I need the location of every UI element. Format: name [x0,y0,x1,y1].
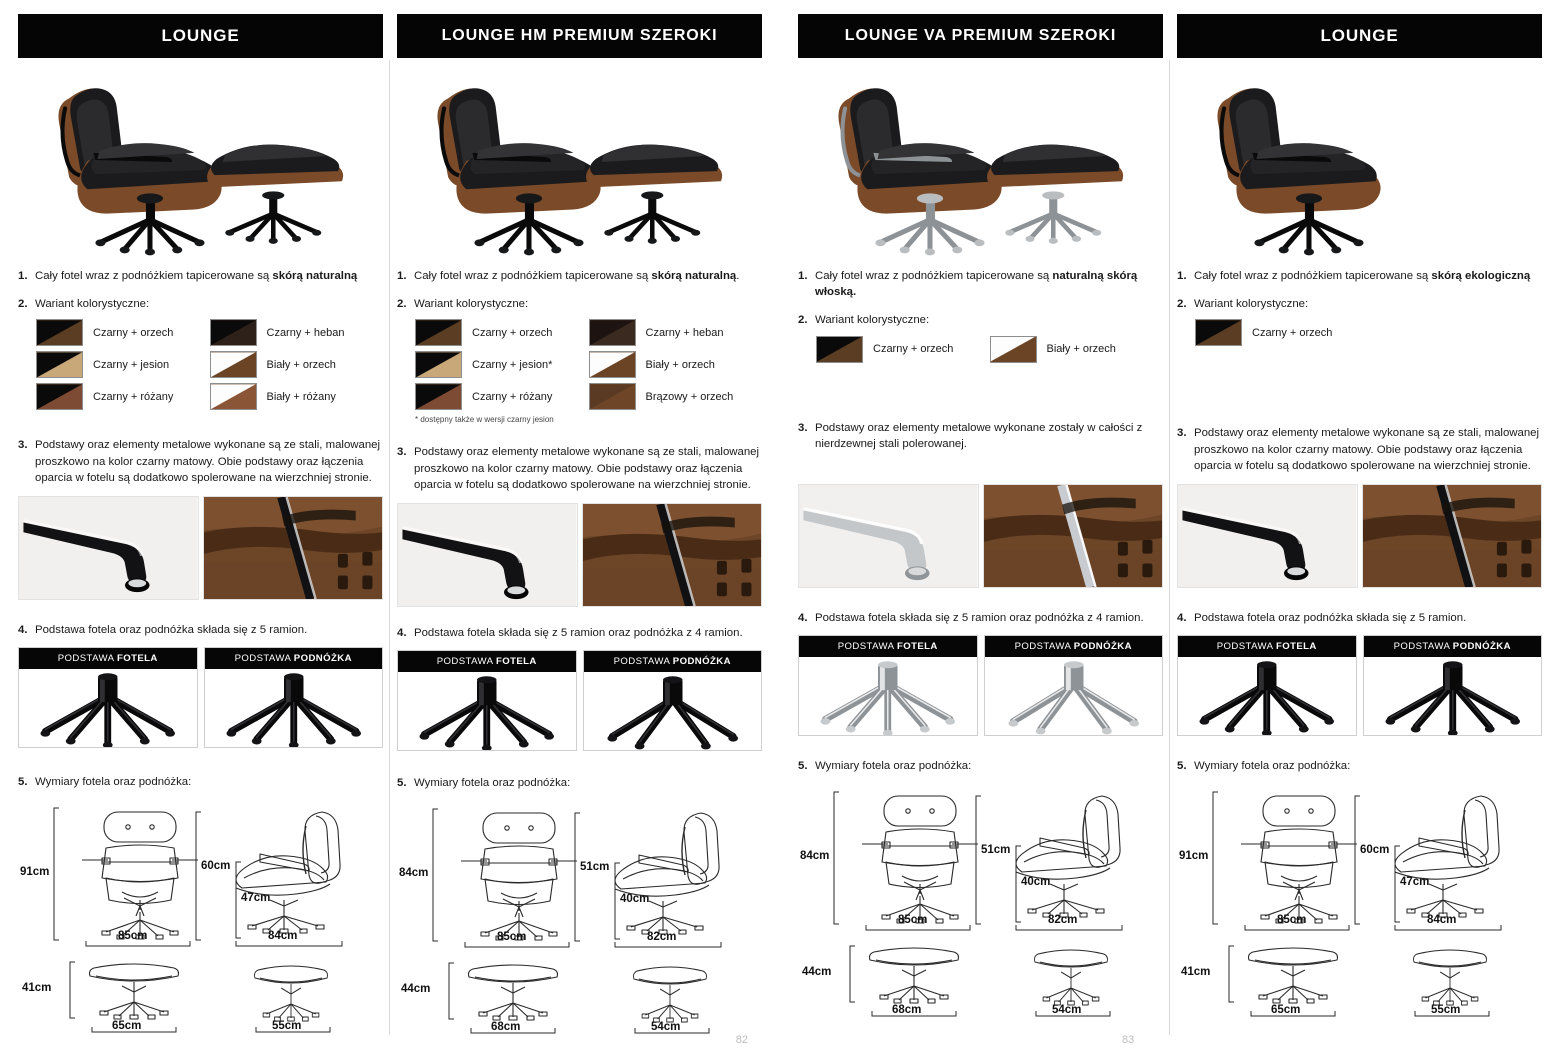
base-comparison: PODSTAWA FOTELA [798,635,1163,736]
dim-ottoman-depth: 55cm [272,1020,301,1032]
spec-item-1: 1. Cały fotel wraz z podnóżkiem tapicero… [798,268,1163,300]
spec-text: Podstawy oraz elementy metalowe wykonane… [815,420,1163,452]
base-comparison: PODSTAWA FOTELA [397,650,762,751]
hero-product-photo [1177,64,1542,256]
dim-ottoman-width: 68cm [892,1004,921,1016]
base-card-chair: PODSTAWA FOTELA [798,635,978,736]
spec-item-5: 5. Wymiary fotela oraz podnóżka: [18,774,383,790]
hero-product-photo [798,64,1163,256]
colour-swatch-icon [415,351,462,378]
ottoman-dimensions: 41cm 65cm 55cm [1177,938,1542,1030]
base-card-ottoman: PODSTAWA PODNÓŻKA [583,650,763,751]
spec-item-1: 1. Cały fotel wraz z podnóżkiem tapicero… [18,268,383,284]
ottoman-dimension-drawing [1177,938,1533,1030]
dim-chair-depth: 82cm [1048,914,1077,926]
swatch-row: Czarny + jesion* Biały + orzech [415,351,762,378]
detail-photo-shell-joint [983,484,1164,588]
colour-swatch-icon [210,383,257,410]
dim-ottoman-height: 41cm [1181,966,1210,978]
spec-text: Wariant kolorystyczne: [1194,296,1542,312]
spec-number: 1. [1177,268,1194,284]
dim-ottoman-depth: 55cm [1431,1004,1460,1016]
spec-item-2: 2. Wariant kolorystyczne: [1177,296,1542,312]
chair-dimension-drawing [1177,784,1533,932]
dim-chair-back-height: 51cm [981,844,1010,856]
dim-chair-back-height: 60cm [1360,844,1389,856]
base-caption: PODSTAWA FOTELA [398,651,576,672]
dimension-diagrams: 84cm 85cm 51cm 40cm 82cm [397,801,762,1047]
spec-number: 4. [798,610,815,626]
colour-variant-grid: Czarny + orzech [1195,319,1542,346]
spec-item-4: 4. Podstawa fotela oraz podnóżka składa … [1177,610,1542,626]
colour-variant-label: Czarny + różany [472,391,552,403]
ottoman-dimension-drawing [18,954,374,1046]
swatch-row: Czarny + różany Brązowy + orzech [415,383,762,410]
page-right: LOUNGE VA PREMIUM SZEROKI [780,0,1560,1064]
dim-chair-height: 91cm [1179,850,1208,862]
swatch-row: Czarny + różany Biały + różany [36,383,383,410]
dim-chair-height: 84cm [399,867,428,879]
colour-variant[interactable]: Czarny + orzech [36,319,210,346]
colour-variant[interactable]: Biały + orzech [589,351,763,378]
dim-ottoman-width: 65cm [112,1020,141,1032]
chair-dimensions: 84cm 85cm 51cm 40cm 82cm [798,784,1163,932]
base-card-chair: PODSTAWA FOTELA [397,650,577,751]
ottoman-dimension-drawing [397,955,753,1047]
dim-chair-seat-height: 47cm [241,892,270,904]
base-card-ottoman: PODSTAWA PODNÓŻKA [204,647,384,748]
colour-variant-label: Czarny + jesion* [472,359,552,371]
colour-variant[interactable]: Biały + różany [210,383,384,410]
base-caption: PODSTAWA FOTELA [1178,636,1356,657]
spec-text: Cały fotel wraz z podnóżkiem tapicerowan… [35,268,383,284]
spec-number: 1. [397,268,414,284]
spec-text: Podstawy oraz elementy metalowe wykonane… [35,437,383,486]
colour-variant-label: Czarny + orzech [472,327,552,339]
spec-text: Cały fotel wraz z podnóżkiem tapicerowan… [414,268,762,284]
spec-text: Podstawa fotela składa się z 5 ramion or… [414,625,762,641]
spec-item-5: 5. Wymiary fotela oraz podnóżka: [397,775,762,791]
spec-item-4: 4. Podstawa fotela oraz podnóżka składa … [18,622,383,638]
colour-variant-label: Czarny + różany [93,391,173,403]
spec-number: 5. [798,758,815,774]
base-photo [398,672,576,750]
spec-item-1: 1. Cały fotel wraz z podnóżkiem tapicero… [1177,268,1542,284]
base-card-ottoman: PODSTAWA PODNÓŻKA [1363,635,1543,736]
spec-item-1: 1. Cały fotel wraz z podnóżkiem tapicero… [397,268,762,284]
product-column-lounge-hm-premium-szeroki: LOUNGE HM PREMIUM SZEROKI [397,0,762,1064]
base-card-chair: PODSTAWA FOTELA [1177,635,1357,736]
dim-chair-back-height: 51cm [580,861,609,873]
ottoman-dimensions: 41cm 65cm 55cm [18,954,383,1046]
product-banner-3: LOUNGE [1177,14,1542,58]
spec-number: 4. [18,622,35,638]
base-photo [799,657,977,735]
dim-chair-width: 85cm [898,914,927,926]
colour-variant-label: Czarny + heban [267,327,345,339]
dim-chair-depth: 82cm [647,931,676,943]
detail-photo-metal-arm [18,496,199,600]
colour-variant[interactable]: Czarny + heban [210,319,384,346]
colour-variant[interactable]: Czarny + heban [589,319,763,346]
spec-number: 2. [798,312,815,328]
base-caption: PODSTAWA PODNÓŻKA [1364,636,1542,657]
base-comparison: PODSTAWA FOTELA [1177,635,1542,736]
colour-swatch-icon [415,383,462,410]
dimension-diagrams: 91cm 85cm 60cm 47cm 84cm [1177,784,1542,1030]
colour-swatch-icon [36,383,83,410]
page-left-columns: LOUNGE [0,0,780,1064]
detail-photo-metal-arm [397,503,578,607]
colour-swatch-icon [1195,319,1242,346]
dim-chair-seat-height: 40cm [620,893,649,905]
spec-item-3: 3. Podstawy oraz elementy metalowe wykon… [18,437,383,486]
ottoman-dimensions: 44cm 68cm 54cm [397,955,762,1047]
spec-number: 2. [1177,296,1194,312]
product-column-lounge: LOUNGE [18,0,383,1064]
colour-variant[interactable]: Czarny + jesion* [415,351,589,378]
spec-number: 5. [18,774,35,790]
spec-item-3: 3. Podstawy oraz elementy metalowe wykon… [1177,425,1542,474]
spec-item-2: 2. Wariant kolorystyczne: [798,312,1163,328]
dim-ottoman-width: 68cm [491,1021,520,1033]
colour-variant-label: Biały + orzech [646,359,715,371]
dim-chair-seat-height: 47cm [1400,876,1429,888]
dim-chair-seat-height: 40cm [1021,876,1050,888]
product-column-lounge-eco: LOUNGE 1. Cały [1177,0,1542,1064]
dim-chair-width: 85cm [1277,914,1306,926]
spec-text: Wariant kolorystyczne: [414,296,762,312]
base-comparison: PODSTAWA FOTELA [18,647,383,748]
colour-swatch-icon [589,351,636,378]
ottoman-dimensions: 44cm 68cm 54cm [798,938,1163,1030]
spec-number: 3. [798,420,815,452]
dim-ottoman-height: 44cm [401,983,430,995]
colour-variant-grid: Czarny + orzech Czarny + heban Czarny + … [36,319,383,410]
base-photo [1364,657,1542,735]
colour-variant-label: Czarny + heban [646,327,724,339]
page-number-right: 83 [1122,1034,1134,1046]
spec-number: 4. [397,625,414,641]
dim-ottoman-depth: 54cm [651,1021,680,1033]
spec-text: Podstawa fotela oraz podnóżka składa się… [1194,610,1542,626]
base-card-ottoman: PODSTAWA PODNÓŻKA [984,635,1164,736]
spec-item-3: 3. Podstawy oraz elementy metalowe wykon… [397,444,762,493]
product-banner-0: LOUNGE [18,14,383,58]
chair-dimensions: 91cm 85cm 60cm 47cm 84cm [18,800,383,948]
colour-swatch-icon [36,351,83,378]
colour-variant-grid: Czarny + orzech Czarny + heban Czarny + … [415,319,762,410]
page-number-left: 82 [736,1034,748,1046]
colour-variant-grid: Czarny + orzech Biały + orzech [816,336,1163,363]
hero-product-photo [18,64,383,256]
dim-ottoman-depth: 54cm [1052,1004,1081,1016]
detail-photo-shell-joint [203,496,384,600]
spec-text: Podstawy oraz elementy metalowe wykonane… [1194,425,1542,474]
spec-number: 5. [1177,758,1194,774]
base-photo [1178,657,1356,735]
spec-number: 3. [18,437,35,486]
dimension-diagrams: 84cm 85cm 51cm 40cm 82cm [798,784,1163,1030]
base-photo [205,669,383,747]
colour-variant[interactable]: Czarny + różany [415,383,589,410]
swatch-row: Czarny + orzech Biały + orzech [816,336,1163,363]
spec-item-5: 5. Wymiary fotela oraz podnóżka: [798,758,1163,774]
colour-variant[interactable]: Biały + orzech [990,336,1164,363]
spec-item-2: 2. Wariant kolorystyczne: [397,296,762,312]
colour-variant[interactable]: Biały + orzech [210,351,384,378]
base-caption: PODSTAWA PODNÓŻKA [985,636,1163,657]
dim-chair-depth: 84cm [268,930,297,942]
spec-text: Wariant kolorystyczne: [35,296,383,312]
base-caption: PODSTAWA FOTELA [799,636,977,657]
colour-swatch-icon [816,336,863,363]
base-caption: PODSTAWA PODNÓŻKA [584,651,762,672]
colour-variant-label: Biały + orzech [267,359,336,371]
colour-variant[interactable]: Brązowy + orzech [589,383,763,410]
detail-photo-shell-joint [582,503,763,607]
dim-chair-back-height: 60cm [201,860,230,872]
spec-number: 1. [18,268,35,284]
spec-text: Wariant kolorystyczne: [815,312,1163,328]
detail-photo-shell-joint [1362,484,1543,588]
chair-dimensions: 84cm 85cm 51cm 40cm 82cm [397,801,762,949]
colour-swatch-icon [210,319,257,346]
catalog-spread: LOUNGE [0,0,1560,1064]
dim-chair-depth: 84cm [1427,914,1456,926]
spec-text: Wymiary fotela oraz podnóżka: [414,775,762,791]
column-divider [389,60,390,1035]
base-card-chair: PODSTAWA FOTELA [18,647,198,748]
spec-item-2: 2. Wariant kolorystyczne: [18,296,383,312]
swatch-row: Czarny + jesion Biały + orzech [36,351,383,378]
colour-swatch-icon [589,383,636,410]
base-photo [584,672,762,750]
dim-ottoman-width: 65cm [1271,1004,1300,1016]
spec-number: 3. [397,444,414,493]
dim-chair-height: 91cm [20,866,49,878]
dim-chair-width: 85cm [497,931,526,943]
spec-item-3: 3. Podstawy oraz elementy metalowe wykon… [798,420,1163,452]
page-right-columns: LOUNGE VA PREMIUM SZEROKI [780,0,1560,1064]
spec-text: Wymiary fotela oraz podnóżka: [1194,758,1542,774]
spec-text: Podstawa fotela składa się z 5 ramion or… [815,610,1163,626]
colour-swatch-icon [415,319,462,346]
chair-dimension-drawing [397,801,753,949]
dim-chair-width: 85cm [118,930,147,942]
colour-swatch-icon [210,351,257,378]
colour-variant[interactable]: Czarny + jesion [36,351,210,378]
colour-variant-label: Czarny + orzech [1252,327,1332,339]
spec-number: 2. [18,296,35,312]
base-caption: PODSTAWA PODNÓŻKA [205,648,383,669]
base-photo [19,669,197,747]
colour-variant[interactable]: Czarny + różany [36,383,210,410]
spec-text: Wymiary fotela oraz podnóżka: [815,758,1163,774]
spec-number: 3. [1177,425,1194,474]
column-divider [1169,60,1170,1035]
construction-detail-photos [18,496,383,600]
swatch-row: Czarny + orzech [1195,319,1542,346]
colour-variant-label: Czarny + orzech [93,327,173,339]
swatch-row: Czarny + orzech Czarny + heban [415,319,762,346]
colour-swatch-icon [589,319,636,346]
spec-number: 4. [1177,610,1194,626]
detail-photo-metal-arm [1177,484,1358,588]
colour-variant-label: Czarny + orzech [873,343,953,355]
swatch-row: Czarny + orzech Czarny + heban [36,319,383,346]
spec-text: Podstawa fotela oraz podnóżka składa się… [35,622,383,638]
product-banner-2: LOUNGE VA PREMIUM SZEROKI [798,14,1163,58]
construction-detail-photos [397,503,762,607]
spec-text: Podstawy oraz elementy metalowe wykonane… [414,444,762,493]
spec-item-5: 5. Wymiary fotela oraz podnóżka: [1177,758,1542,774]
colour-variant-label: Biały + orzech [1047,343,1116,355]
spec-number: 2. [397,296,414,312]
detail-photo-metal-arm [798,484,979,588]
chair-dimension-drawing [798,784,1154,932]
dim-chair-height: 84cm [800,850,829,862]
colour-variant-label: Brązowy + orzech [646,391,734,403]
spec-number: 5. [397,775,414,791]
colour-variant[interactable]: Czarny + orzech [415,319,589,346]
page-left: LOUNGE [0,0,780,1064]
spec-text: Cały fotel wraz z podnóżkiem tapicerowan… [815,268,1163,300]
dim-ottoman-height: 41cm [22,982,51,994]
colour-variant-label: Biały + różany [267,391,336,403]
ottoman-dimension-drawing [798,938,1154,1030]
spec-number: 1. [798,268,815,300]
product-banner-1: LOUNGE HM PREMIUM SZEROKI [397,14,762,58]
construction-detail-photos [798,484,1163,588]
base-photo [985,657,1163,735]
chair-dimensions: 91cm 85cm 60cm 47cm 84cm [1177,784,1542,932]
colour-variant[interactable]: Czarny + orzech [816,336,990,363]
dimension-diagrams: 91cm 85cm 60cm 47cm 84cm [18,800,383,1046]
spec-item-4: 4. Podstawa fotela składa się z 5 ramion… [798,610,1163,626]
base-caption: PODSTAWA FOTELA [19,648,197,669]
colour-swatch-icon [990,336,1037,363]
colour-variant-label: Czarny + jesion [93,359,169,371]
spec-text: Wymiary fotela oraz podnóżka: [35,774,383,790]
product-column-lounge-va-premium-szeroki: LOUNGE VA PREMIUM SZEROKI [798,0,1163,1064]
colour-swatch-icon [36,319,83,346]
hero-product-photo [397,64,762,256]
dim-ottoman-height: 44cm [802,966,831,978]
swatch-footnote: * dostępny także w wersji czarny jesion [415,415,762,424]
colour-variant[interactable]: Czarny + orzech [1195,319,1370,346]
construction-detail-photos [1177,484,1542,588]
spec-item-4: 4. Podstawa fotela składa się z 5 ramion… [397,625,762,641]
chair-dimension-drawing [18,800,374,948]
spec-text: Cały fotel wraz z podnóżkiem tapicerowan… [1194,268,1542,284]
